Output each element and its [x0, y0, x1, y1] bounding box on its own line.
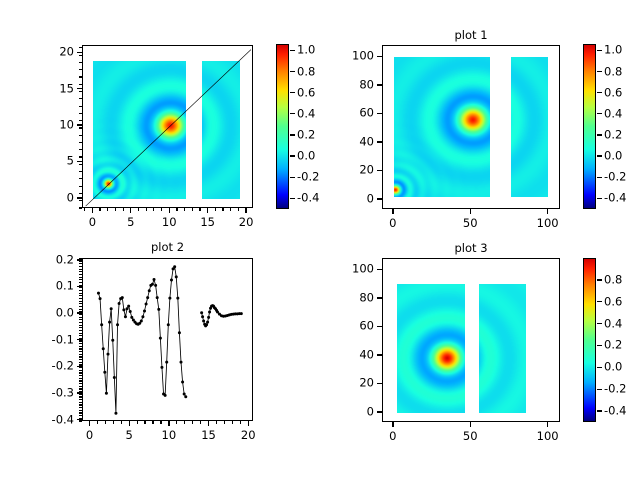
x-tick-label: 15 [201, 430, 216, 442]
y-minor-tick [79, 396, 82, 397]
x-minor-tick [105, 421, 106, 424]
data-point-marker [153, 278, 156, 281]
x-minor-tick [192, 421, 193, 424]
y-tick-label: -0.1 [30, 334, 74, 346]
data-point-marker [201, 315, 204, 318]
y-tick-label: 0.2 [30, 254, 74, 266]
y-minor-tick [79, 277, 82, 278]
y-minor-tick [79, 383, 82, 384]
data-point-marker [124, 315, 127, 318]
y-minor-tick [79, 282, 82, 283]
y-minor-tick [79, 388, 82, 389]
y-minor-tick [79, 391, 82, 392]
panel-bottom-left: plot 2-0.4-0.3-0.2-0.10.00.10.205101520 [0, 0, 640, 480]
data-point-marker [99, 297, 102, 300]
x-tick-label: 20 [241, 430, 256, 442]
data-point-marker [130, 316, 133, 319]
data-point-marker [170, 279, 173, 282]
panel-title: plot 2 [151, 241, 184, 253]
data-point-marker [111, 339, 114, 342]
data-point-marker [146, 296, 149, 299]
y-minor-tick [79, 410, 82, 411]
y-minor-tick [79, 285, 82, 286]
data-point-marker [173, 265, 176, 268]
x-tick-label: 5 [126, 430, 133, 442]
y-minor-tick [79, 412, 82, 413]
data-point-marker [154, 284, 157, 287]
y-minor-tick [79, 303, 82, 304]
x-minor-tick [113, 421, 114, 424]
x-minor-tick [152, 421, 153, 424]
y-minor-tick [79, 271, 82, 272]
data-point-marker [100, 323, 103, 326]
x-minor-tick [97, 421, 98, 424]
data-point-marker [208, 311, 211, 314]
data-point-marker [240, 312, 243, 315]
data-point-marker [145, 303, 148, 306]
data-point-marker [168, 297, 171, 300]
x-minor-tick [160, 421, 161, 424]
x-minor-tick [144, 421, 145, 424]
y-minor-tick [79, 261, 82, 262]
data-point-marker [140, 320, 143, 323]
data-point-marker [108, 321, 111, 324]
data-point-marker [181, 381, 184, 384]
data-point-marker [129, 310, 132, 313]
y-minor-tick [79, 306, 82, 307]
x-minor-tick [184, 421, 185, 424]
data-point-marker [121, 296, 124, 299]
data-point-marker [143, 309, 146, 312]
y-minor-tick [79, 420, 82, 421]
data-point-marker [148, 289, 151, 292]
data-point-marker [107, 353, 110, 356]
x-minor-tick [216, 421, 217, 424]
y-minor-tick [79, 295, 82, 296]
y-minor-tick [79, 290, 82, 291]
x-tick-label: 10 [162, 430, 177, 442]
y-minor-tick [79, 287, 82, 288]
data-point-marker [184, 395, 187, 398]
data-point-marker [127, 305, 130, 308]
data-point-marker [178, 331, 181, 334]
x-tick [208, 421, 209, 426]
y-minor-tick [79, 407, 82, 408]
y-minor-tick [79, 269, 82, 270]
y-minor-tick [79, 338, 82, 339]
y-minor-tick [79, 370, 82, 371]
data-point-marker [206, 321, 209, 324]
y-minor-tick [79, 362, 82, 363]
data-point-marker [122, 308, 125, 311]
y-minor-tick [79, 415, 82, 416]
data-point-marker [116, 323, 119, 326]
y-minor-tick [79, 346, 82, 347]
data-point-marker [156, 296, 159, 299]
x-minor-tick [240, 421, 241, 424]
y-minor-tick [79, 404, 82, 405]
y-minor-tick [79, 333, 82, 334]
y-minor-tick [79, 298, 82, 299]
y-minor-tick [79, 359, 82, 360]
data-point-marker [110, 307, 113, 310]
x-minor-tick [200, 421, 201, 424]
data-point-marker [180, 361, 183, 364]
data-point-marker [205, 323, 208, 326]
y-minor-tick [79, 356, 82, 357]
data-point-marker [141, 315, 144, 318]
y-minor-tick [79, 343, 82, 344]
x-minor-tick [232, 421, 233, 424]
y-minor-tick [79, 293, 82, 294]
data-point-marker [165, 361, 168, 364]
data-point-marker [164, 394, 167, 397]
y-tick-label: 0.1 [30, 281, 74, 293]
x-tick [129, 421, 130, 426]
y-minor-tick [79, 258, 82, 259]
data-point-marker [159, 337, 162, 340]
x-tick [89, 421, 90, 426]
data-point-marker [167, 323, 170, 326]
y-minor-tick [79, 367, 82, 368]
y-minor-tick [79, 327, 82, 328]
y-minor-tick [79, 279, 82, 280]
y-minor-tick [79, 402, 82, 403]
data-point-marker [102, 347, 105, 350]
y-minor-tick [79, 380, 82, 381]
y-minor-tick [79, 378, 82, 379]
axes-bottom-left [82, 258, 253, 421]
matplotlib-figure: 0510152005101520-0.4-0.20.00.20.40.60.81… [0, 0, 640, 480]
y-minor-tick [79, 399, 82, 400]
data-point-marker [103, 371, 106, 374]
x-minor-tick [176, 421, 177, 424]
data-point-marker [176, 297, 179, 300]
y-minor-tick [79, 348, 82, 349]
data-point-marker [114, 412, 117, 415]
y-minor-tick [79, 319, 82, 320]
y-minor-tick [79, 418, 82, 419]
data-point-marker [118, 302, 121, 305]
y-minor-tick [79, 386, 82, 387]
data-point-marker [200, 311, 203, 314]
data-point-marker [151, 283, 154, 286]
y-minor-tick [79, 301, 82, 302]
data-point-marker [126, 307, 129, 310]
x-minor-tick [121, 421, 122, 424]
data-point-marker [207, 316, 210, 319]
data-point-marker [105, 392, 108, 395]
y-tick-label: -0.4 [30, 414, 74, 426]
y-minor-tick [79, 274, 82, 275]
data-point-marker [157, 308, 160, 311]
y-minor-tick [79, 375, 82, 376]
data-point-marker [113, 376, 116, 379]
y-minor-tick [79, 394, 82, 395]
data-point-marker [160, 366, 163, 369]
x-tick [168, 421, 169, 426]
y-minor-tick [79, 372, 82, 373]
y-minor-tick [79, 266, 82, 267]
y-minor-tick [79, 364, 82, 365]
y-minor-tick [79, 325, 82, 326]
data-point-marker [202, 320, 205, 323]
y-minor-tick [79, 317, 82, 318]
x-minor-tick [137, 421, 138, 424]
y-minor-tick [79, 322, 82, 323]
y-minor-tick [79, 335, 82, 336]
data-point-marker [183, 393, 186, 396]
y-minor-tick [79, 309, 82, 310]
x-tick [248, 421, 249, 426]
y-tick-label: 0.0 [30, 307, 74, 319]
x-minor-tick [224, 421, 225, 424]
y-minor-tick [79, 351, 82, 352]
x-tick-label: 0 [86, 430, 93, 442]
y-minor-tick [79, 311, 82, 312]
y-tick-label: -0.2 [30, 361, 74, 373]
y-minor-tick [79, 314, 82, 315]
y-minor-tick [79, 263, 82, 264]
data-point-marker [97, 292, 100, 295]
data-point-marker [175, 275, 178, 278]
y-minor-tick [79, 330, 82, 331]
y-tick-label: -0.3 [30, 387, 74, 399]
y-minor-tick [79, 340, 82, 341]
line-series-group [83, 259, 253, 421]
y-minor-tick [79, 354, 82, 355]
